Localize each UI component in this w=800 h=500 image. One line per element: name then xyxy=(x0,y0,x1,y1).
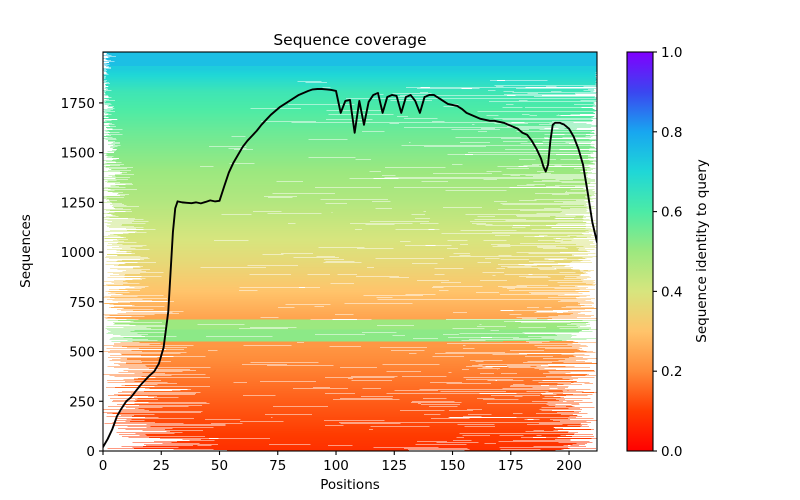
colorbar-gradient xyxy=(627,52,653,451)
x-tick-label: 200 xyxy=(556,458,582,474)
x-axis-label: Positions xyxy=(320,477,380,493)
x-tick-label: 100 xyxy=(323,458,349,474)
x-tick-label: 125 xyxy=(381,458,407,474)
y-tick-label: 500 xyxy=(69,345,95,361)
y-tick-label: 1250 xyxy=(61,195,95,211)
y-tick-label: 0 xyxy=(86,444,95,460)
x-tick-label: 150 xyxy=(440,458,466,474)
colorbar-tick-label: 0.0 xyxy=(661,444,682,460)
colorbar-tick-label: 0.6 xyxy=(661,205,682,221)
y-tick-label: 1000 xyxy=(61,245,95,261)
y-axis-label: Sequences xyxy=(18,214,34,288)
colorbar-tick-label: 1.0 xyxy=(661,45,682,61)
x-tick-label: 0 xyxy=(99,458,108,474)
colorbar-tick-label: 0.2 xyxy=(661,364,682,380)
y-tick-label: 250 xyxy=(69,394,95,410)
x-tick-label: 75 xyxy=(269,458,286,474)
colorbar-label: Sequence identity to query xyxy=(694,159,710,343)
y-tick-label: 1500 xyxy=(61,146,95,162)
figure-canvas: Sequence coverage 0255075100125150175200… xyxy=(0,0,800,500)
page-title: Sequence coverage xyxy=(273,31,426,49)
x-tick-label: 50 xyxy=(211,458,228,474)
x-tick-label: 175 xyxy=(498,458,524,474)
y-tick-label: 750 xyxy=(69,295,95,311)
y-tick-label: 1750 xyxy=(61,96,95,112)
colorbar-tick-label: 0.4 xyxy=(661,284,682,300)
colorbar-tick-label: 0.8 xyxy=(661,125,682,141)
x-tick-label: 25 xyxy=(153,458,170,474)
